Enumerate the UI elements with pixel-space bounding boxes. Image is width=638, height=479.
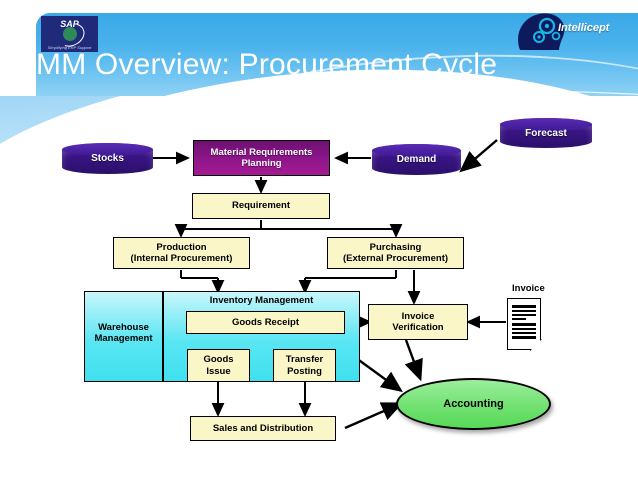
node-forecast[interactable]: Forecast (500, 118, 592, 148)
document-line (512, 314, 536, 316)
node-stocks[interactable]: Stocks (62, 143, 153, 174)
document-line (512, 310, 536, 312)
node-goods-issue-label-line1: Goods (203, 354, 233, 365)
node-sales-and-distribution[interactable]: Sales and Distribution (190, 416, 336, 441)
invoice-document-icon[interactable] (507, 298, 541, 350)
node-inventory-management-label: Inventory Management (163, 295, 360, 306)
node-demand-label: Demand (397, 154, 436, 165)
node-transfer-posting-label-line1: Transfer (286, 354, 324, 365)
node-purchasing-label-line1: Purchasing (343, 242, 448, 253)
node-production-label-line2: (Internal Procurement) (131, 253, 233, 264)
node-transfer-posting-label-line2: Posting (286, 366, 324, 377)
node-production-label-line1: Production (131, 242, 233, 253)
node-demand[interactable]: Demand (372, 144, 461, 175)
node-transfer-posting[interactable]: Transfer Posting (273, 349, 336, 382)
node-warehouse-management-label: Warehouse Management (84, 322, 163, 345)
node-mrp-label-line1: Material Requirements (211, 147, 313, 158)
node-accounting-label: Accounting (443, 398, 504, 410)
node-forecast-label: Forecast (525, 128, 567, 139)
node-invoice-verification[interactable]: Invoice Verification (368, 304, 468, 340)
node-mrp-label-line2: Planning (211, 158, 313, 169)
document-line (512, 332, 536, 334)
sap-logo-tagline: Simplifying ERP Support (41, 45, 98, 50)
document-line (512, 318, 526, 320)
document-line (512, 323, 536, 326)
node-goods-receipt-label: Goods Receipt (232, 317, 299, 328)
node-warehouse-management-label-line1: Warehouse (84, 322, 163, 333)
intellicept-logo: Intellicept (512, 9, 630, 51)
sap-logo-text: SAP (41, 19, 98, 29)
node-warehouse-management-label-line2: Management (84, 333, 163, 344)
node-purchasing-label-line2: (External Procurement) (343, 253, 448, 264)
node-production[interactable]: Production (Internal Procurement) (113, 237, 250, 269)
document-line (512, 328, 536, 330)
node-purchasing[interactable]: Purchasing (External Procurement) (327, 237, 464, 269)
document-line (512, 305, 536, 308)
slide-canvas: MM Overview: Procurement Cycle SAP Simpl… (0, 0, 638, 479)
node-goods-issue-label-line2: Issue (203, 366, 233, 377)
node-invoice-label: Invoice (512, 283, 545, 294)
sap-logo: SAP Simplifying ERP Support (41, 16, 98, 52)
node-goods-receipt[interactable]: Goods Receipt (186, 311, 345, 334)
intellicept-logo-text: Intellicept (558, 22, 609, 34)
node-stocks-label: Stocks (91, 153, 124, 164)
page-title: MM Overview: Procurement Cycle (36, 48, 636, 82)
node-invoice-verification-label-line1: Invoice (392, 311, 443, 322)
node-accounting[interactable]: Accounting (396, 378, 551, 430)
node-invoice-verification-label-line2: Verification (392, 322, 443, 333)
document-line (512, 336, 536, 339)
node-material-requirements-planning[interactable]: Material Requirements Planning (193, 140, 330, 176)
node-requirement[interactable]: Requirement (192, 193, 330, 219)
node-goods-issue[interactable]: Goods Issue (187, 349, 250, 382)
node-requirement-label: Requirement (232, 200, 290, 211)
node-sales-and-distribution-label: Sales and Distribution (213, 423, 313, 434)
